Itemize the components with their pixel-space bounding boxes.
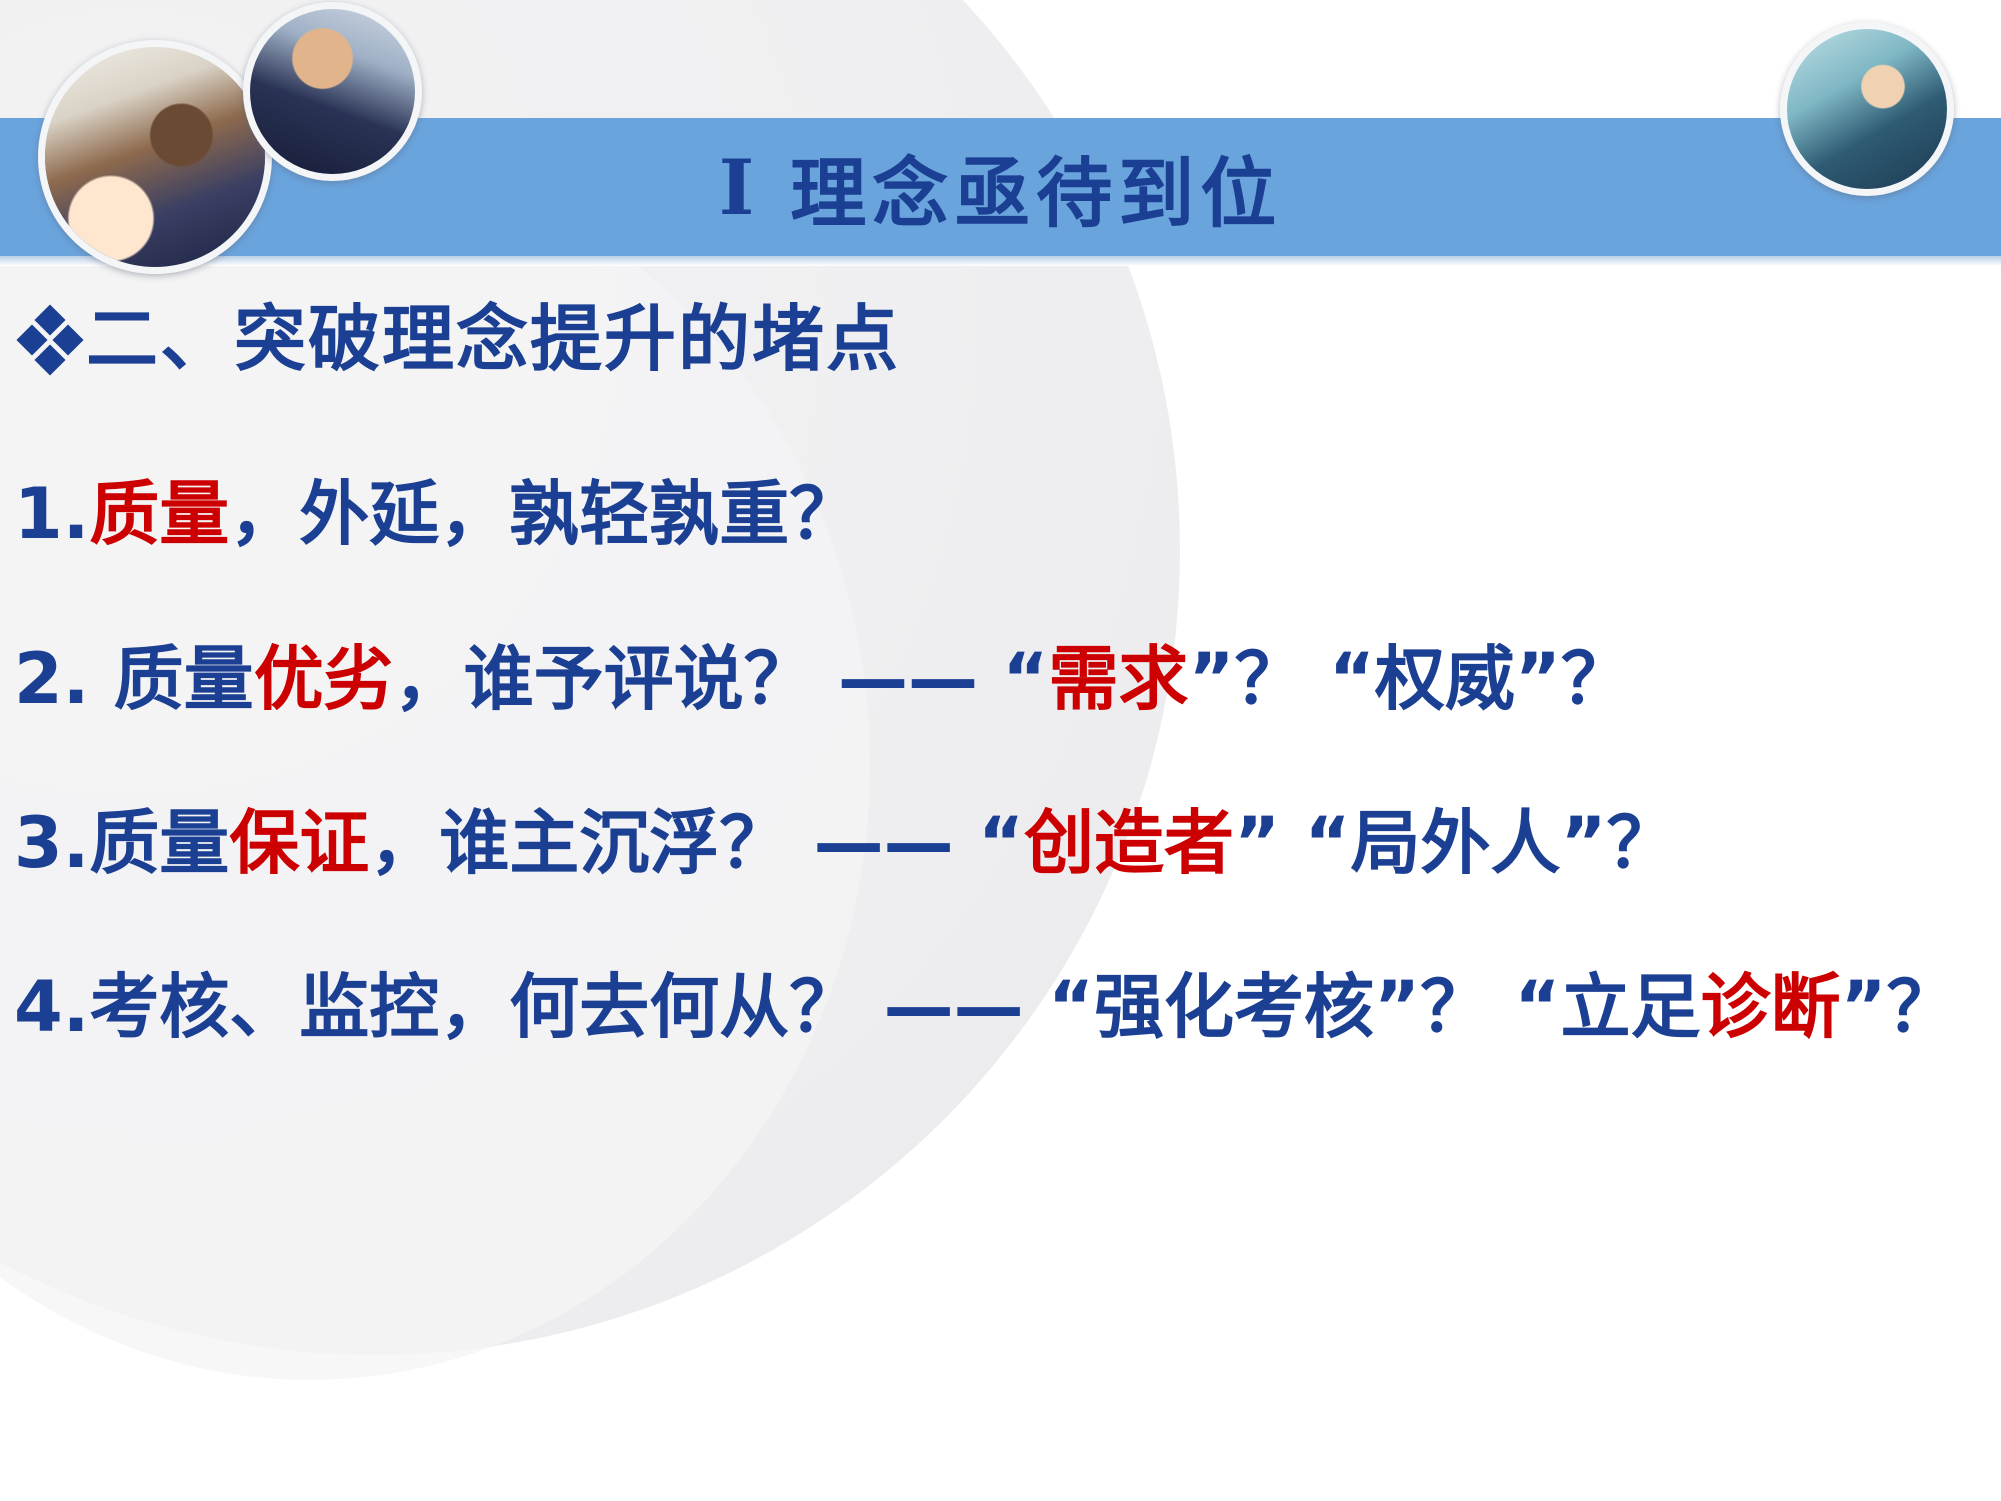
list-item-number: 2. (14, 638, 89, 720)
list-item-number: 4. (14, 966, 89, 1048)
list-item-text: ”？ (1840, 966, 1956, 1048)
emphasis-text: 质量 (89, 473, 229, 555)
photo-bubble-handshake (243, 2, 422, 181)
section-heading-label: 二、突破理念提升的堵点 (86, 300, 900, 379)
list-item-text: 质量 (89, 802, 229, 884)
photo-bubble-businessmen (38, 40, 272, 274)
photo-image-presenter (1787, 29, 1947, 189)
slide-canvas: I 理念亟待到位 二、突破理念提升的堵点 1.质量，外延，孰轻孰重？ 2. 质量… (0, 0, 2001, 1501)
list-item: 1.质量，外延，孰轻孰重？ (0, 475, 2001, 553)
slide-body: 二、突破理念提升的堵点 1.质量，外延，孰轻孰重？ 2. 质量优劣，谁予评说？ … (0, 300, 2001, 1047)
list-item: 4.考核、监控，何去何从？ —— “强化考核”？ “立足诊断”？ (0, 968, 2001, 1046)
list-item-number: 3. (14, 802, 89, 884)
list-item: 3.质量保证，谁主沉浮？ —— “创造者” “局外人”？ (0, 804, 2001, 882)
emphasis-text: 需求 (1048, 638, 1188, 720)
emphasis-text: 保证 (229, 802, 369, 884)
title-band-shadow (0, 256, 2001, 266)
diamond-bullet-icon (22, 312, 78, 368)
list-item-text: 考核、监控，何去何从？ —— “强化考核”？ “立足 (89, 966, 1700, 1048)
emphasis-text: 诊断 (1700, 966, 1840, 1048)
section-heading: 二、突破理念提升的堵点 (0, 300, 2001, 379)
emphasis-text: 优劣 (254, 638, 394, 720)
photo-image-handshake (250, 9, 415, 174)
list-item-text: ，谁予评说？ —— “ (394, 638, 1049, 720)
photo-image-businessmen (45, 47, 265, 267)
list-item-text: ” “局外人”？ (1234, 802, 1676, 884)
list-item-text: 质量 (89, 638, 253, 720)
list-item-text: ，外延，孰轻孰重？ (229, 473, 859, 555)
emphasis-text: 创造者 (1024, 802, 1234, 884)
list-item-number: 1. (14, 473, 89, 555)
title-label: 理念亟待到位 (790, 132, 1282, 242)
list-item-text: ，谁主沉浮？ —— “ (369, 802, 1024, 884)
list-item: 2. 质量优劣，谁予评说？ —— “需求”？ “权威”？ (0, 640, 2001, 718)
list-item-text: ”？ “权威”？ (1188, 638, 1630, 720)
title-section-number: I (719, 143, 761, 232)
photo-bubble-presenter (1780, 22, 1954, 196)
